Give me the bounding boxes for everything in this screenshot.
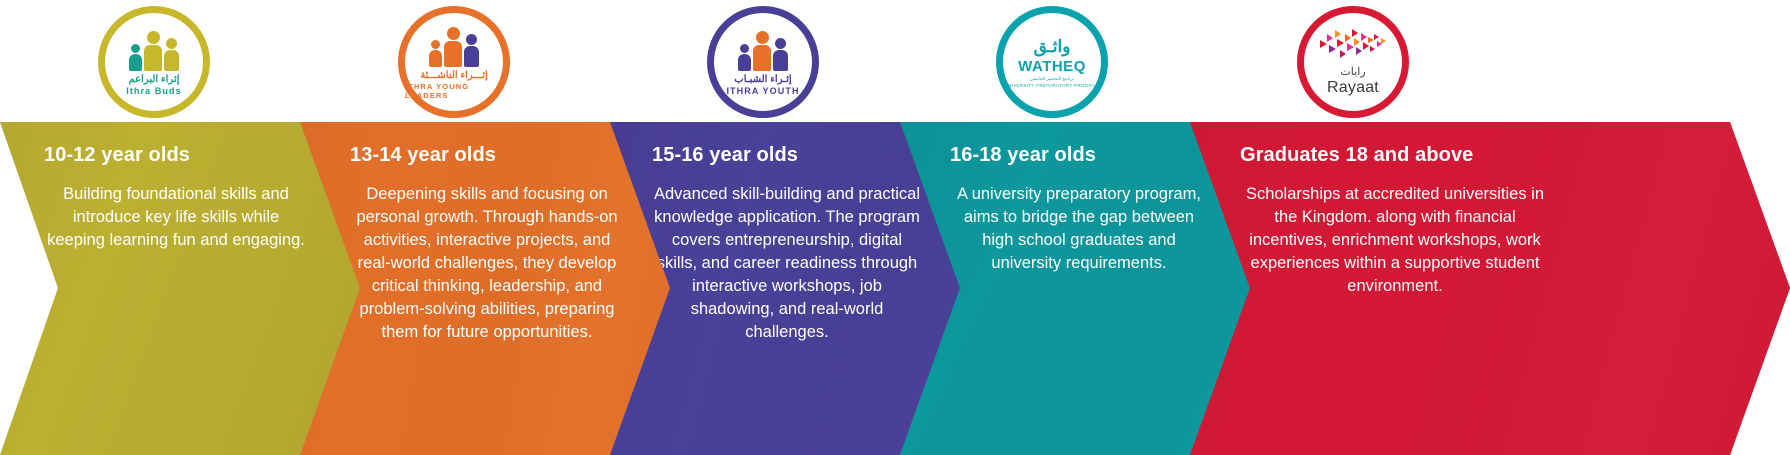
stage-heading: 13-14 year olds [350, 144, 624, 167]
logo-arabic-label: واثـق [1034, 37, 1071, 57]
stage-heading: Graduates 18 and above [1240, 144, 1550, 167]
logo-subtitle-arabic: برنامج التحضير الجامعي [1030, 76, 1074, 82]
stage-panel-buds[interactable]: 10-12 year olds Building foundational sk… [0, 122, 360, 455]
logo-english-label: ITHRA YOUNG LEADERS [405, 82, 503, 100]
logo-arabic-label: إثـراء الشبـاب [734, 74, 791, 85]
stage-description: Building foundational skills and introdu… [44, 183, 308, 252]
stage-description: Deepening skills and focusing on persona… [350, 183, 624, 344]
stage-chevron-band: 10-12 year olds Building foundational sk… [0, 122, 1790, 455]
people-group-icon [738, 29, 788, 71]
logo-english-label: Ithra Buds [126, 86, 182, 96]
flag-flock-icon [1316, 28, 1390, 62]
stage-heading: 10-12 year olds [44, 144, 308, 167]
logo-english-label: WATHEQ [1018, 58, 1086, 75]
stage-panel-rayaat[interactable]: Graduates 18 and above Scholarships at a… [1190, 122, 1790, 455]
logo-rayaat[interactable]: رايات Rayaat [1297, 6, 1409, 118]
infographic-root: إثراء البراعم Ithra Buds إثـــراء الناشـ… [0, 0, 1790, 455]
logo-english-label: ITHRA YOUTH [726, 86, 799, 96]
stage-description: Scholarships at accredited universities … [1240, 183, 1550, 298]
logo-ithra-buds[interactable]: إثراء البراعم Ithra Buds [98, 6, 210, 118]
logo-arabic-label: رايات [1340, 65, 1365, 78]
logo-watheq[interactable]: واثـق WATHEQ برنامج التحضير الجامعي UNIV… [996, 6, 1108, 118]
logo-ithra-youth[interactable]: إثـراء الشبـاب ITHRA YOUTH [707, 6, 819, 118]
logo-arabic-label: إثراء البراعم [128, 74, 179, 85]
logo-ithra-young-leaders[interactable]: إثـــراء الناشـــئة ITHRA YOUNG LEADERS [398, 6, 510, 118]
people-group-icon [429, 25, 479, 67]
logo-english-label: Rayaat [1327, 79, 1379, 97]
stage-heading: 16-18 year olds [950, 144, 1208, 167]
stage-description: Advanced skill-building and practical kn… [652, 183, 922, 344]
logo-subtitle-english: UNIVERSITY PREPARATORY PROGRAM [1005, 83, 1100, 88]
logo-arabic-label: إثـــراء الناشـــئة [420, 70, 488, 81]
stage-heading: 15-16 year olds [652, 144, 922, 167]
logo-row: إثراء البراعم Ithra Buds إثـــراء الناشـ… [0, 0, 1790, 122]
people-group-icon [129, 29, 179, 71]
stage-description: A university preparatory program, aims t… [950, 183, 1208, 275]
